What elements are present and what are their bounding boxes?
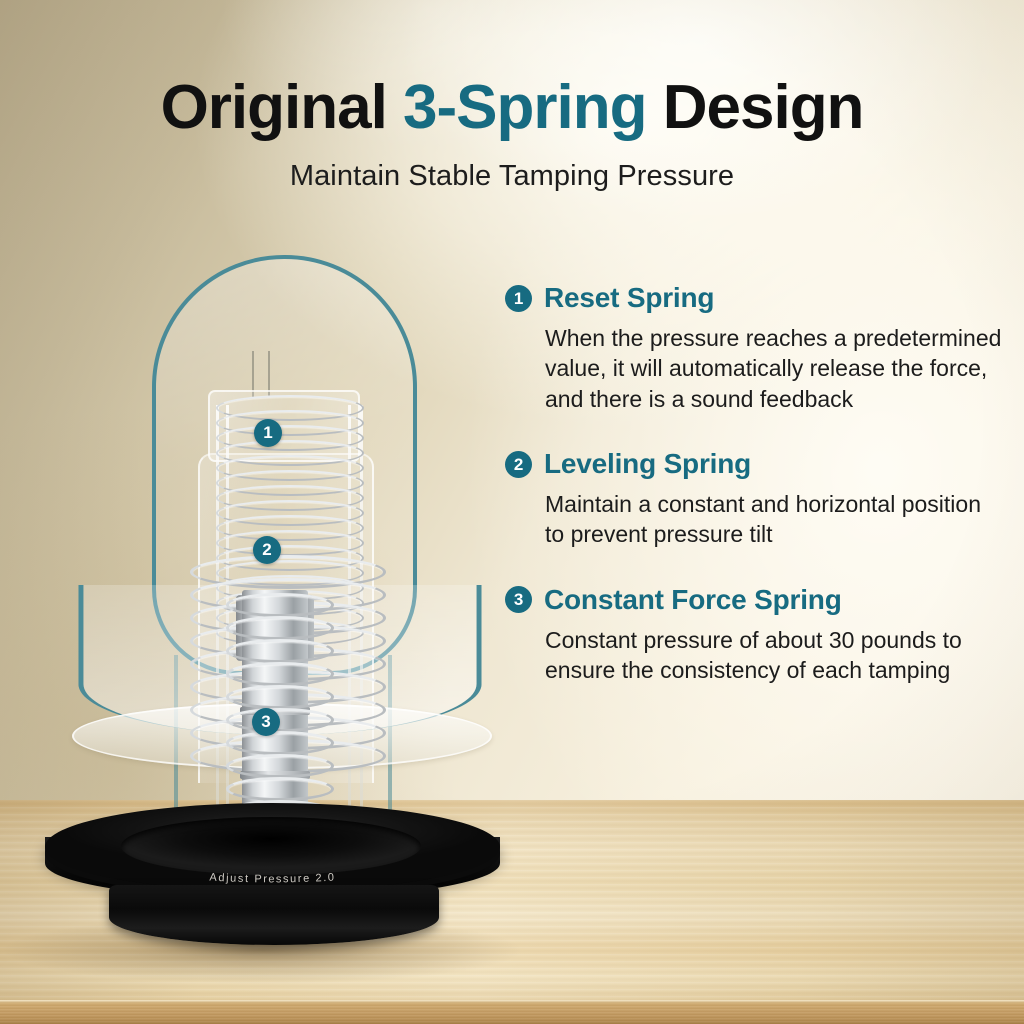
base-inner-recess: [121, 817, 421, 875]
feature-title-2: Leveling Spring: [544, 448, 751, 480]
spring-coil: [226, 616, 334, 640]
spring-coil: [226, 662, 334, 686]
page-title: Original 3-Spring Design: [0, 72, 1024, 143]
feature-body-3: Constant pressure of about 30 pounds to …: [545, 625, 990, 686]
feature-title-3: Constant Force Spring: [544, 584, 842, 616]
feature-item-constant-force-spring: 3 Constant Force Spring Constant pressur…: [505, 584, 1015, 686]
spring-coil: [226, 639, 334, 663]
feature-list: 1 Reset Spring When the pressure reaches…: [505, 282, 1015, 720]
title-accent: 3-Spring: [403, 73, 646, 142]
feature-heading-1: 1 Reset Spring: [505, 282, 1015, 314]
feature-badge-2: 2: [505, 451, 532, 478]
product-marker-3: 3: [252, 708, 280, 736]
spring-coil: [226, 754, 334, 778]
base-foot: [109, 885, 439, 945]
feature-badge-1: 1: [505, 285, 532, 312]
feature-heading-2: 2 Leveling Spring: [505, 448, 1015, 480]
tamper-illustration: 1 2 3 Adjust Pressure 2.0: [30, 255, 510, 965]
feature-item-leveling-spring: 2 Leveling Spring Maintain a constant an…: [505, 448, 1015, 550]
feature-item-reset-spring: 1 Reset Spring When the pressure reaches…: [505, 282, 1015, 414]
title-part-2: Design: [647, 73, 864, 142]
title-part-1: Original: [161, 73, 403, 142]
page-subtitle: Maintain Stable Tamping Pressure: [0, 160, 1024, 193]
feature-body-2: Maintain a constant and horizontal posit…: [545, 489, 985, 550]
product-marker-2: 2: [253, 536, 281, 564]
spring-coil: [226, 708, 334, 732]
product-infographic: Original 3-Spring Design Maintain Stable…: [0, 0, 1024, 1024]
spring-coil: [226, 777, 334, 801]
spring-coil: [226, 685, 334, 709]
feature-badge-3: 3: [505, 586, 532, 613]
feature-heading-3: 3 Constant Force Spring: [505, 584, 1015, 616]
feature-title-1: Reset Spring: [544, 282, 714, 314]
table-front-edge: [0, 1000, 1024, 1024]
feature-body-1: When the pressure reaches a predetermine…: [545, 323, 1015, 414]
tamper-base: Adjust Pressure 2.0: [45, 803, 515, 948]
spring-coil: [226, 593, 334, 617]
product-marker-1: 1: [254, 419, 282, 447]
spring-coil: [226, 731, 334, 755]
